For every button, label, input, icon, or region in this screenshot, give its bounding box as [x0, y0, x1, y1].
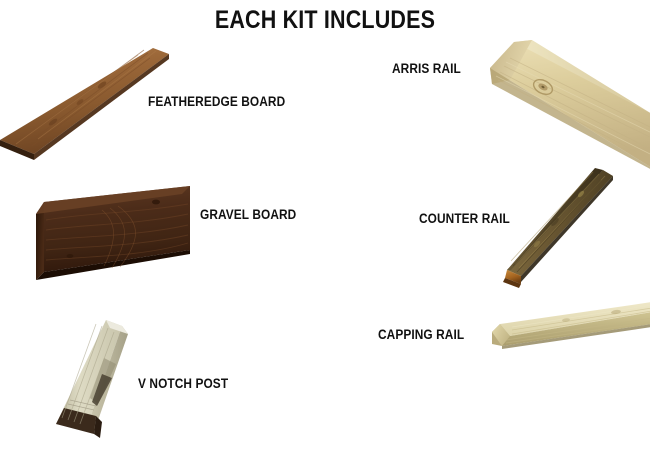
label-arris-rail: ARRIS RAIL: [392, 61, 461, 76]
v-notch-post-image: [42, 312, 152, 442]
label-v-notch-post: V NOTCH POST: [138, 376, 228, 391]
featheredge-board-image: [0, 40, 170, 165]
label-gravel-board: GRAVEL BOARD: [200, 207, 296, 222]
arris-rail-image: [470, 28, 650, 180]
label-counter-rail: COUNTER RAIL: [419, 211, 510, 226]
label-capping-rail: CAPPING RAIL: [378, 327, 464, 342]
gravel-board-image: [6, 180, 192, 290]
each-kit-includes-graphic: EACH KIT INCLUDES: [0, 0, 650, 455]
capping-rail-image: [466, 298, 650, 370]
counter-rail-image: [495, 168, 613, 290]
label-featheredge-board: FEATHEREDGE BOARD: [148, 94, 285, 109]
